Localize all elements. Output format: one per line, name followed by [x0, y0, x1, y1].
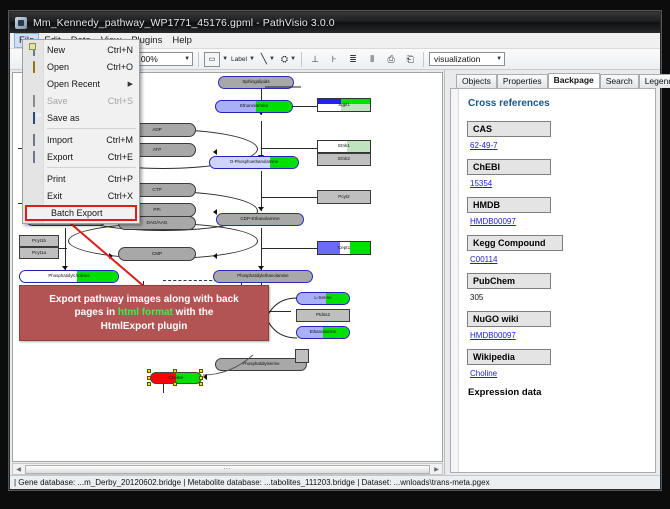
edge-h4 [261, 197, 317, 198]
node-cmp[interactable]: CMP [118, 247, 196, 261]
annotation-line-1: Export pathway images along with back [49, 293, 239, 307]
backpage-panel: Cross references CAS 62-49-7 ChEBI 15354… [450, 88, 656, 473]
annotation-line-3: HtmlExport plugin [49, 320, 239, 334]
title-bar: Mm_Kennedy_pathway_WP1771_45176.gpml - P… [10, 12, 660, 33]
xref-db-cas: CAS [467, 121, 551, 137]
tab-properties[interactable]: Properties [497, 74, 548, 88]
xref-value-nugo-wiki[interactable]: HMDB00097 [470, 331, 647, 340]
line-icon[interactable]: ╲ [261, 54, 267, 65]
side-tabs: Objects Properties Backpage Search Legen… [445, 73, 660, 88]
selection-handle[interactable] [173, 369, 177, 373]
zoom-combobox[interactable]: 100% ▼ [131, 52, 193, 66]
scroll-right-icon[interactable]: ▶ [431, 464, 442, 474]
gene-pcyt1b[interactable]: Pcyt1b [19, 235, 59, 247]
xref-value-cas[interactable]: 62-49-7 [470, 141, 647, 150]
tab-search[interactable]: Search [600, 74, 639, 88]
gene-cept1[interactable]: Cept1 [317, 241, 371, 255]
window-title: Mm_Kennedy_pathway_WP1771_45176.gpml - P… [33, 17, 335, 29]
toolbar-divider-3 [423, 52, 424, 67]
file-menu-separator-2 [47, 167, 136, 168]
file-menu-open-recent[interactable]: Open Recent ▶ [23, 75, 139, 92]
annotation-line-2c: with the [173, 307, 214, 318]
chevron-down-icon[interactable]: ▼ [269, 56, 275, 62]
file-menu-save-as[interactable]: Save as [23, 109, 139, 126]
gene-etnk2[interactable]: Etnk2 [317, 153, 371, 166]
menu-help[interactable]: Help [167, 33, 197, 48]
xref-db-pubchem: PubChem [467, 273, 551, 289]
side-panel-container: Objects Properties Backpage Search Legen… [445, 70, 660, 475]
file-menu-dropdown: New Ctrl+N Open Ctrl+O Open Recent ▶ Sav… [22, 39, 140, 224]
open-folder-icon [23, 62, 44, 72]
file-menu-import[interactable]: Import Ctrl+M [23, 131, 139, 148]
edge-4 [65, 228, 66, 270]
file-menu-exit[interactable]: Exit Ctrl+X [23, 187, 139, 204]
visualization-value: visualization [434, 54, 480, 64]
save-as-icon [23, 113, 44, 123]
arrow-icon [213, 149, 217, 155]
status-text: | Gene database: ...m_Derby_20120602.bri… [14, 478, 490, 487]
toolbar-divider-2 [301, 52, 302, 67]
edge-7 [261, 171, 262, 211]
chevron-down-icon: ▼ [184, 56, 190, 62]
import-icon [23, 135, 44, 145]
xref-db-chebi: ChEBI [467, 159, 551, 175]
arrow-icon [109, 253, 113, 259]
xref-value-pubchem: 305 [470, 293, 647, 302]
pathvisio-window: Mm_Kennedy_pathway_WP1771_45176.gpml - P… [9, 11, 661, 490]
annotation-highlight: html format [118, 307, 173, 318]
annotation-line-2: pages in html format with the [49, 306, 239, 320]
selection-handle[interactable] [147, 376, 151, 380]
chevron-down-icon[interactable]: ▼ [249, 56, 255, 62]
edge-8 [261, 228, 262, 270]
gene-pcyt2[interactable]: Pcyt2 [317, 190, 371, 204]
edge-h5 [261, 248, 317, 249]
print-icon[interactable]: ⎙ [383, 51, 399, 67]
tab-objects[interactable]: Objects [456, 74, 497, 88]
tab-backpage[interactable]: Backpage [548, 73, 600, 88]
datanode-icon[interactable]: ▭ [204, 52, 220, 67]
align-left-icon[interactable]: ⊦ [326, 51, 342, 67]
xref-value-kegg-compound[interactable]: C00114 [470, 255, 647, 264]
visualization-combobox[interactable]: visualization ▼ [429, 52, 505, 66]
file-menu-open[interactable]: Open Ctrl+O [23, 58, 139, 75]
chevron-down-icon: ▼ [496, 56, 502, 62]
cross-references-title: Cross references [468, 98, 647, 109]
tab-legend[interactable]: Legend [639, 74, 670, 88]
xref-db-nugo-wiki: NuGO wiki [467, 311, 551, 327]
canvas-hscrollbar[interactable]: ◀ ⋯ ▶ [12, 463, 443, 475]
xref-db-kegg-compound: Kegg Compound [467, 235, 563, 251]
status-bar: | Gene database: ...m_Derby_20120602.bri… [10, 475, 660, 489]
xref-value-chebi[interactable]: 15354 [470, 179, 647, 188]
file-menu-new[interactable]: New Ctrl+N [23, 41, 139, 58]
backpage-scroll-gutter[interactable] [451, 89, 459, 472]
file-menu-print[interactable]: Print Ctrl+P [23, 170, 139, 187]
node-phosphatidylcholines[interactable]: Phosphatidylcholines [19, 270, 119, 283]
save-disabled-icon [23, 96, 44, 106]
anchor-box-2[interactable] [295, 349, 309, 363]
gene-sgpl1[interactable]: Sgpl1 [317, 98, 371, 112]
backpage-content: Cross references CAS 62-49-7 ChEBI 15354… [459, 89, 655, 472]
arrow-icon [203, 374, 207, 380]
label-tool-label[interactable]: Label [231, 56, 247, 63]
xref-db-hmdb: HMDB [467, 197, 551, 213]
edge-h3 [261, 148, 317, 149]
stack-vertical-icon[interactable]: ≣ [345, 51, 361, 67]
annotation-line-2a: pages in [75, 307, 118, 318]
distribute-icon[interactable]: ⦀ [364, 51, 380, 67]
node-o-phosphoethanolamine[interactable]: O-Phosphoethanolamine [209, 156, 299, 169]
xref-value-hmdb[interactable]: HMDB00097 [470, 217, 647, 226]
gene-etnk1[interactable]: Etnk1 [317, 140, 371, 153]
xref-value-wikipedia[interactable]: Choline [470, 369, 647, 378]
arrow-icon [258, 207, 264, 211]
file-menu-export[interactable]: Export Ctrl+E [23, 148, 139, 165]
arrow-icon [213, 209, 217, 215]
app-icon [15, 17, 27, 29]
expression-data-title: Expression data [468, 387, 647, 398]
gene-pcyt1a[interactable]: Pcyt1a [19, 247, 59, 259]
chevron-down-icon[interactable]: ▼ [290, 56, 296, 62]
selection-handle[interactable] [147, 382, 151, 386]
properties-icon[interactable]: ⎗ [402, 51, 418, 67]
chevron-down-icon[interactable]: ▼ [222, 56, 228, 62]
choline-out-curve [197, 369, 259, 395]
export-icon [23, 152, 44, 162]
edge-6 [261, 121, 262, 159]
node-cdp-ethanolamine[interactable]: CDP-Ethanolamine [216, 213, 304, 226]
selection-handle[interactable] [147, 369, 151, 373]
scroll-left-icon[interactable]: ◀ [13, 464, 24, 474]
file-menu-save: Save Ctrl+S [23, 92, 139, 109]
xref-db-wikipedia: Wikipedia [467, 349, 551, 365]
align-center-icon[interactable]: ⊥ [307, 51, 323, 67]
selection-handle[interactable] [173, 382, 177, 386]
file-menu-batch-export[interactable]: Batch Export [25, 205, 137, 221]
node-phosphatidylethanolamine[interactable]: Phosphatidylethanolamine [213, 270, 313, 283]
desktop-background: Mm_Kennedy_pathway_WP1771_45176.gpml - P… [0, 0, 670, 509]
interaction-icon[interactable]: ⛭ [281, 54, 288, 65]
new-document-icon [23, 45, 44, 55]
submenu-arrow-icon: ▶ [128, 80, 139, 88]
arrow-icon [213, 253, 217, 259]
file-menu-separator-1 [47, 128, 136, 129]
annotation-callout: Export pathway images along with back pa… [19, 285, 269, 341]
toolbar-divider [198, 52, 199, 67]
hscroll-thumb[interactable]: ⋯ [25, 465, 430, 474]
